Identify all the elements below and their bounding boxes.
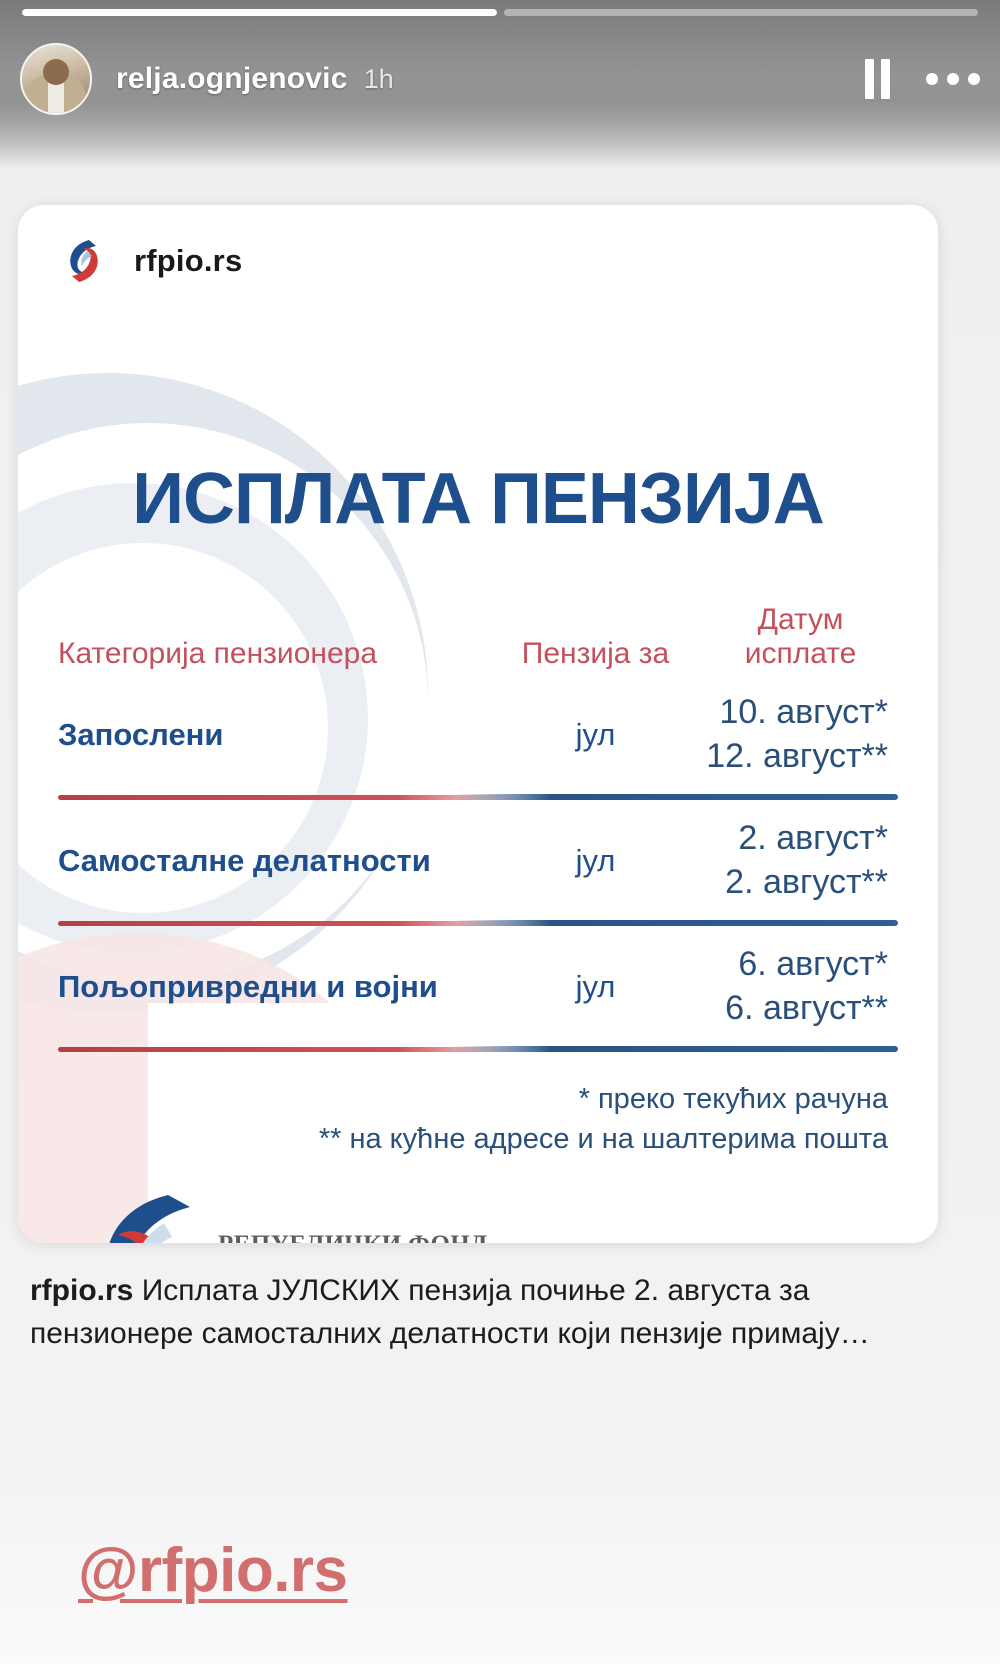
row-payment-date-line2: 6. август** — [703, 987, 888, 1031]
row-divider — [58, 794, 898, 801]
table-header-payment-date: Датум исплате — [703, 603, 898, 671]
divider-blue — [453, 794, 898, 800]
row-payment-date: 10. август* 12. август** — [703, 691, 898, 778]
table-header-row: Категорија пензионера Пензија за Датум и… — [52, 603, 904, 677]
row-pension-for: јул — [488, 717, 703, 753]
story-progress-bars — [22, 9, 978, 16]
row-payment-date-line2: 12. август** — [703, 735, 888, 779]
story-progress-fill — [22, 9, 497, 16]
post-header: rfpio.rs — [18, 205, 938, 313]
organization-text: РЕПУБЛИЧКИ ФОНД ЗА ПЕНЗИЈСКО И ИНВАЛИДСК… — [218, 1228, 578, 1243]
post-caption: rfpio.rs Исплата ЈУЛСКИХ пензија почиње … — [30, 1270, 964, 1355]
organization-line-1: РЕПУБЛИЧКИ ФОНД — [218, 1228, 578, 1243]
row-pension-for: јул — [488, 843, 703, 879]
story-header-actions — [865, 59, 980, 99]
row-category: Пољопривредни и војни — [58, 968, 488, 1006]
row-category: Запослени — [58, 716, 488, 754]
row-payment-date-line1: 10. август* — [703, 691, 888, 735]
story-progress-segment-1[interactable] — [22, 9, 497, 16]
avatar[interactable] — [20, 43, 92, 115]
rfpio-logo-icon — [58, 235, 110, 287]
row-payment-date-line1: 2. август* — [703, 817, 888, 861]
row-payment-date-line1: 6. август* — [703, 943, 888, 987]
divider-blue — [453, 1046, 898, 1052]
pause-icon[interactable] — [865, 59, 890, 99]
pension-table: Категорија пензионера Пензија за Датум и… — [52, 603, 904, 1053]
rfpio-large-logo-icon — [72, 1185, 200, 1243]
row-payment-date-line2: 2. август** — [703, 861, 888, 905]
post-handle[interactable]: rfpio.rs — [134, 243, 242, 279]
footnotes: * преко текућих рачуна ** на кућне адрес… — [52, 1079, 904, 1159]
infographic-title: ИСПЛАТА ПЕНЗИЈА — [52, 313, 904, 535]
story-username[interactable]: relja.ognjenovic — [116, 62, 348, 96]
table-header-pension-for: Пензија за — [488, 637, 703, 671]
story-header: relja.ognjenovic 1h — [20, 36, 980, 122]
table-row: Запослени јул 10. август* 12. август** — [52, 677, 904, 792]
row-category: Самосталне делатности — [58, 842, 488, 880]
avatar-face — [43, 59, 69, 85]
row-pension-for: јул — [488, 969, 703, 1005]
mention-sticker[interactable]: @rfpio.rs — [78, 1535, 348, 1606]
shared-post-card[interactable]: rfpio.rs ИСПЛАТА ПЕНЗИЈА Категорија пенз… — [18, 205, 938, 1243]
row-divider — [58, 920, 898, 927]
table-header-category: Категорија пензионера — [58, 637, 488, 671]
pension-infographic: ИСПЛАТА ПЕНЗИЈА Категорија пензионера Пе… — [18, 313, 938, 1243]
organization-block: РЕПУБЛИЧКИ ФОНД ЗА ПЕНЗИЈСКО И ИНВАЛИДСК… — [18, 1185, 938, 1243]
row-payment-date: 6. август* 6. август** — [703, 943, 898, 1030]
story-timestamp: 1h — [364, 64, 394, 95]
row-divider — [58, 1046, 898, 1053]
row-payment-date: 2. август* 2. август** — [703, 817, 898, 904]
caption-author[interactable]: rfpio.rs — [30, 1274, 133, 1307]
table-row: Пољопривредни и војни јул 6. август* 6. … — [52, 929, 904, 1044]
divider-blue — [453, 920, 898, 926]
footnote-double-asterisk: ** на кућне адресе и на шалтерима пошта — [52, 1119, 888, 1159]
caption-text: Исплата ЈУЛСКИХ пензија почиње 2. август… — [30, 1274, 870, 1350]
story-progress-segment-2[interactable] — [504, 9, 979, 16]
more-options-icon[interactable] — [926, 73, 980, 85]
footnote-single-asterisk: * преко текућих рачуна — [52, 1079, 888, 1119]
table-row: Самосталне делатности јул 2. август* 2. … — [52, 803, 904, 918]
